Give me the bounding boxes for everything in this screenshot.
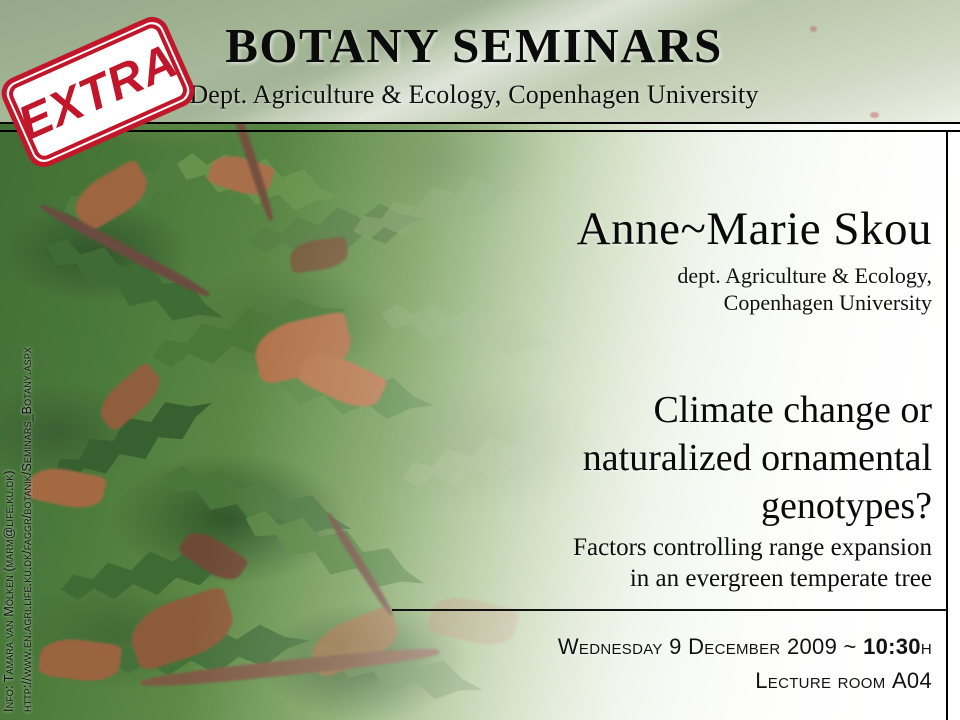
talk-subtitle-line-2: in an evergreen temperate tree (412, 563, 932, 594)
seminar-date: Wednesday 9 December 2009 ~ (558, 634, 863, 659)
seminar-time-suffix: h (921, 634, 932, 659)
affiliation-line-1: dept. Agriculture & Ecology, (677, 262, 932, 289)
talk-title-line-2: naturalized ornamental (412, 434, 932, 482)
speaker-affiliation: dept. Agriculture & Ecology, Copenhagen … (677, 262, 932, 316)
right-border-rule (946, 130, 948, 720)
leaf-blemish (870, 112, 879, 118)
talk-subtitle-line-1: Factors controlling range expansion (412, 532, 932, 563)
talk-title: Climate change or naturalized ornamental… (412, 386, 932, 530)
seminar-poster: BOTANY SEMINARS Dept. Agriculture & Ecol… (0, 0, 960, 720)
contact-info-text: Info: Tamara van Mölken (marm@life.ku.dk… (2, 470, 16, 712)
contact-sidebar: Info: Tamara van Mölken (marm@life.ku.dk… (0, 132, 46, 720)
room-label: Lecture room (755, 668, 892, 693)
poster-content: Anne~Marie Skou dept. Agriculture & Ecol… (380, 140, 946, 715)
room-number: A04 (892, 668, 932, 693)
talk-title-line-3: genotypes? (412, 482, 932, 530)
affiliation-line-2: Copenhagen University (677, 289, 932, 316)
speaker-name: Anne~Marie Skou (577, 202, 932, 256)
header-divider-lower (0, 130, 960, 132)
seminar-url-text[interactable]: http://www.en.agri.life.ku.dk/faggr/bota… (20, 347, 34, 712)
schedule-divider-rule (392, 609, 946, 611)
seminar-location: Lecture room A04 (755, 668, 932, 694)
talk-title-line-1: Climate change or (412, 386, 932, 434)
talk-subtitle: Factors controlling range expansion in a… (412, 532, 932, 594)
seminar-datetime: Wednesday 9 December 2009 ~ 10:30h (558, 634, 932, 660)
seminar-time: 10:30 (863, 634, 921, 659)
